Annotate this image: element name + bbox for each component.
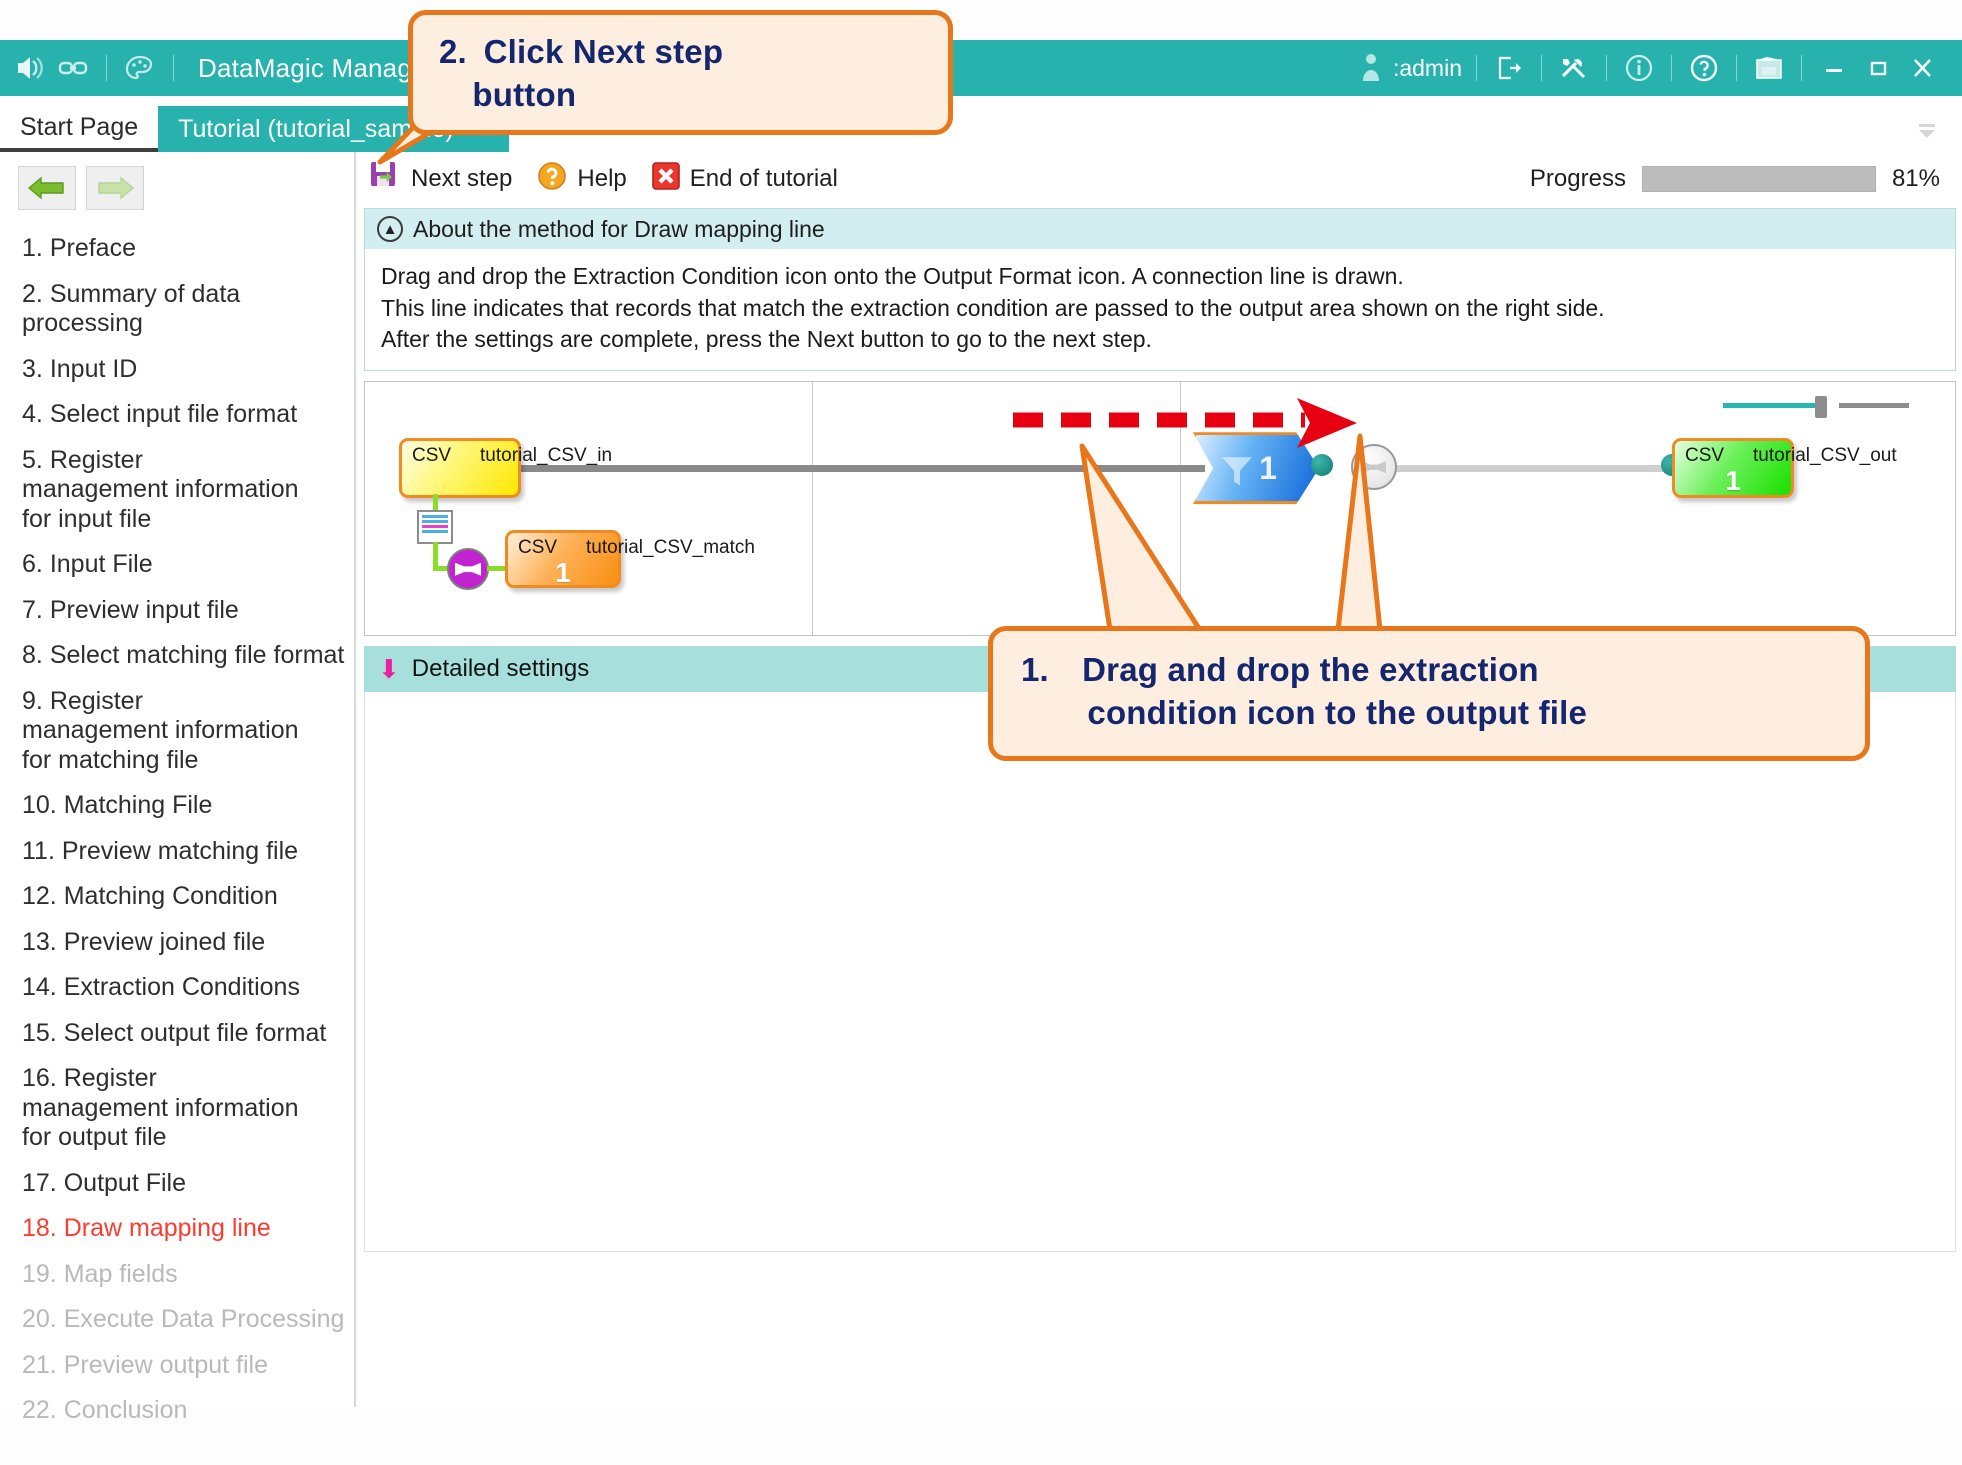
node-name-label: tutorial_CSV_match xyxy=(586,537,755,559)
detailed-settings-body[interactable] xyxy=(364,692,1956,1252)
step-text: 13. xyxy=(22,928,57,956)
step-label: Register management information for inpu… xyxy=(22,446,299,533)
zoom-slider-track xyxy=(1839,403,1909,408)
node-type-label: CSV xyxy=(412,445,451,467)
step-text: 6. xyxy=(22,550,43,578)
about-line: This line indicates that records that ma… xyxy=(381,293,1939,325)
step-label: Draw mapping line xyxy=(64,1214,271,1242)
title-bar: DataMagic Management - DataMagic Manager… xyxy=(0,40,1962,96)
step-text: 16. xyxy=(22,1064,57,1092)
sidebar-item-step: 22. Conclusion xyxy=(22,1388,354,1434)
tutorial-step-list: 1. Preface 2. Summary of data processing… xyxy=(0,220,354,1434)
step-label: Preface xyxy=(50,234,136,262)
about-method-title: About the method for Draw mapping line xyxy=(413,216,825,243)
step-label: Input File xyxy=(50,550,153,578)
sidebar-item-step[interactable]: 15. Select output file format xyxy=(22,1011,354,1057)
tutorial-content-pane: Next step Help xyxy=(358,152,1962,1407)
step-label: Input ID xyxy=(50,355,138,383)
forward-arrow-icon[interactable] xyxy=(86,166,144,210)
close-icon[interactable] xyxy=(1900,48,1944,88)
sidebar-item-step[interactable]: 7. Preview input file xyxy=(22,588,354,634)
step-text: 4. xyxy=(22,400,43,428)
tutorial-toolbar: Next step Help xyxy=(358,152,1962,206)
progress-group: Progress 81% xyxy=(1530,165,1962,193)
chevron-up-icon[interactable]: ▲ xyxy=(377,216,403,242)
help-label: Help xyxy=(577,165,626,193)
step-label: Matching Condition xyxy=(64,882,278,910)
callout-text: 2. Click Next step button xyxy=(439,31,926,117)
help-icon[interactable] xyxy=(1682,48,1726,88)
sidebar-item-step[interactable]: 16. Register management information for … xyxy=(22,1056,354,1161)
step-label: Preview output file xyxy=(64,1351,268,1379)
step-text: 7. xyxy=(22,596,43,624)
step-label: Preview joined file xyxy=(64,928,266,956)
step-label: Conclusion xyxy=(64,1396,188,1424)
link-icon[interactable] xyxy=(54,49,92,87)
sidebar-nav-buttons xyxy=(0,152,354,220)
step-label: Select output file format xyxy=(64,1019,327,1047)
step-text: 21. xyxy=(22,1351,57,1379)
sidebar-item-step[interactable]: 9. Register management information for m… xyxy=(22,679,354,784)
step-text: 1. xyxy=(22,234,43,262)
step-text: 20. xyxy=(22,1305,57,1333)
step-text: 2. xyxy=(22,280,43,308)
step-label: Register management information for outp… xyxy=(22,1064,299,1151)
step-text: 19. xyxy=(22,1260,57,1288)
divider xyxy=(1541,55,1542,81)
callout-1-tail-left xyxy=(1050,440,1270,650)
callout-text: 1. Drag and drop the extraction conditio… xyxy=(1021,649,1845,735)
sidebar-item-step[interactable]: 2. Summary of data processing xyxy=(22,272,354,347)
tab-label: Start Page xyxy=(20,113,138,142)
help-circle-icon xyxy=(536,160,568,199)
step-label: Output File xyxy=(64,1169,186,1197)
step-text: 3. xyxy=(22,355,43,383)
about-line: After the settings are complete, press t… xyxy=(381,324,1939,356)
step-label: Register management information for matc… xyxy=(22,687,299,774)
chevron-down-icon[interactable] xyxy=(1914,120,1940,146)
step-label: Extraction Conditions xyxy=(64,973,300,1001)
detailed-settings-label: Detailed settings xyxy=(412,655,589,683)
step-label: Select matching file format xyxy=(50,641,345,669)
zoom-slider-thumb[interactable] xyxy=(1815,396,1827,418)
sidebar-item-step: 21. Preview output file xyxy=(22,1343,354,1389)
divider xyxy=(106,55,107,81)
sidebar-item-step[interactable]: 1. Preface xyxy=(22,226,354,272)
divider xyxy=(173,55,174,81)
step-text: 22. xyxy=(22,1396,57,1424)
step-label: Summary of data processing xyxy=(22,280,240,338)
step-label: Preview input file xyxy=(50,596,239,624)
info-icon[interactable] xyxy=(1617,48,1661,88)
sidebar-item-step[interactable]: 13. Preview joined file xyxy=(22,920,354,966)
end-of-tutorial-button[interactable]: End of tutorial xyxy=(651,161,838,198)
matching-link-icon[interactable] xyxy=(447,548,489,590)
user-icon xyxy=(1349,48,1393,88)
node-name-label: tutorial_CSV_in xyxy=(480,445,612,467)
minimize-icon[interactable] xyxy=(1812,48,1856,88)
about-method-panel: ▲ About the method for Draw mapping line… xyxy=(364,208,1956,371)
divider xyxy=(1606,55,1607,81)
step-text: 10. xyxy=(22,791,57,819)
sidebar-item-step[interactable]: 12. Matching Condition xyxy=(22,874,354,920)
node-input-csv[interactable]: CSV tutorial_CSV_in xyxy=(399,438,521,498)
close-red-icon xyxy=(651,161,681,198)
tab-start-page[interactable]: Start Page xyxy=(0,106,158,152)
callout-drag-and-drop: 1. Drag and drop the extraction conditio… xyxy=(988,626,1870,761)
sidebar-item-step[interactable]: 10. Matching File xyxy=(22,783,354,829)
sidebar-item-step-current[interactable]: 18. Draw mapping line xyxy=(22,1206,354,1252)
divider xyxy=(1671,55,1672,81)
step-label: Map fields xyxy=(64,1260,178,1288)
callout-1-tail-right xyxy=(1320,430,1400,645)
zoom-slider-fill xyxy=(1723,403,1817,408)
step-text: 8. xyxy=(22,641,43,669)
about-line: Drag and drop the Extraction Condition i… xyxy=(381,261,1939,293)
maximize-icon[interactable] xyxy=(1856,48,1900,88)
app-logo-group xyxy=(0,49,184,87)
step-label: Matching File xyxy=(64,791,213,819)
callout-click-next-step: 2. Click Next step button xyxy=(408,10,953,135)
sidebar-item-step: 19. Map fields xyxy=(22,1252,354,1298)
preview-table-icon[interactable] xyxy=(417,510,453,544)
step-text: 12. xyxy=(22,882,57,910)
sidebar-item-step[interactable]: 6. Input File xyxy=(22,542,354,588)
tools-icon[interactable] xyxy=(1552,48,1596,88)
step-text: 11. xyxy=(22,837,55,865)
logout-icon[interactable] xyxy=(1487,48,1531,88)
progress-label: Progress xyxy=(1530,165,1626,193)
step-label: Execute Data Processing xyxy=(64,1305,345,1333)
step-text: 17. xyxy=(22,1169,57,1197)
node-type-label: CSV xyxy=(518,537,557,559)
divider xyxy=(1801,55,1802,81)
step-text: 5. xyxy=(22,446,43,474)
save-window-icon[interactable] xyxy=(1747,48,1791,88)
node-number-label: 1 xyxy=(1675,465,1791,497)
end-of-tutorial-label: End of tutorial xyxy=(690,165,838,193)
sidebar-item-step[interactable]: 11. Preview matching file xyxy=(22,829,354,875)
tab-strip: Start Page Tutorial (tutorial_sample) * … xyxy=(0,96,1962,152)
node-type-label: CSV xyxy=(1685,445,1724,467)
node-output-csv[interactable]: CSV tutorial_CSV_out 1 xyxy=(1672,438,1794,498)
arrow-down-icon[interactable]: ⬇ xyxy=(378,656,400,682)
sidebar-item-step[interactable]: 5. Register management information for i… xyxy=(22,438,354,543)
step-text: 14. xyxy=(22,973,57,1001)
palette-icon[interactable] xyxy=(121,49,159,87)
speaker-logo-icon xyxy=(12,49,50,87)
node-number-label: 1 xyxy=(508,557,618,589)
help-button[interactable]: Help xyxy=(536,160,626,199)
sidebar-item-step[interactable]: 4. Select input file format xyxy=(22,392,354,438)
progress-bar xyxy=(1642,166,1876,192)
step-text: 18. xyxy=(22,1214,57,1242)
sidebar-item-step[interactable]: 17. Output File xyxy=(22,1161,354,1207)
node-match-csv[interactable]: CSV tutorial_CSV_match 1 xyxy=(505,530,621,588)
node-name-label: tutorial_CSV_out xyxy=(1753,445,1897,467)
back-arrow-icon[interactable] xyxy=(18,166,76,210)
zoom-slider[interactable] xyxy=(1723,396,1909,414)
divider xyxy=(1736,55,1737,81)
progress-percent: 81% xyxy=(1892,165,1940,193)
sidebar-item-step: 20. Execute Data Processing xyxy=(22,1297,354,1343)
sidebar-item-step[interactable]: 14. Extraction Conditions xyxy=(22,965,354,1011)
connector-line-output xyxy=(1380,465,1680,472)
user-name: :admin xyxy=(1393,55,1462,82)
divider xyxy=(1476,55,1477,81)
about-method-header[interactable]: ▲ About the method for Draw mapping line xyxy=(365,209,1955,249)
about-method-body: Drag and drop the Extraction Condition i… xyxy=(365,249,1955,370)
step-label: Select input file format xyxy=(50,400,297,428)
sidebar-item-step[interactable]: 8. Select matching file format xyxy=(22,633,354,679)
sidebar-item-step[interactable]: 3. Input ID xyxy=(22,347,354,393)
step-text: 9. xyxy=(22,687,43,715)
window-controls: :admin xyxy=(1349,48,1962,88)
tutorial-sidebar: 1. Preface 2. Summary of data processing… xyxy=(0,152,356,1407)
step-label: Preview matching file xyxy=(62,837,298,865)
step-text: 15. xyxy=(22,1019,57,1047)
canvas-divider xyxy=(812,382,813,635)
